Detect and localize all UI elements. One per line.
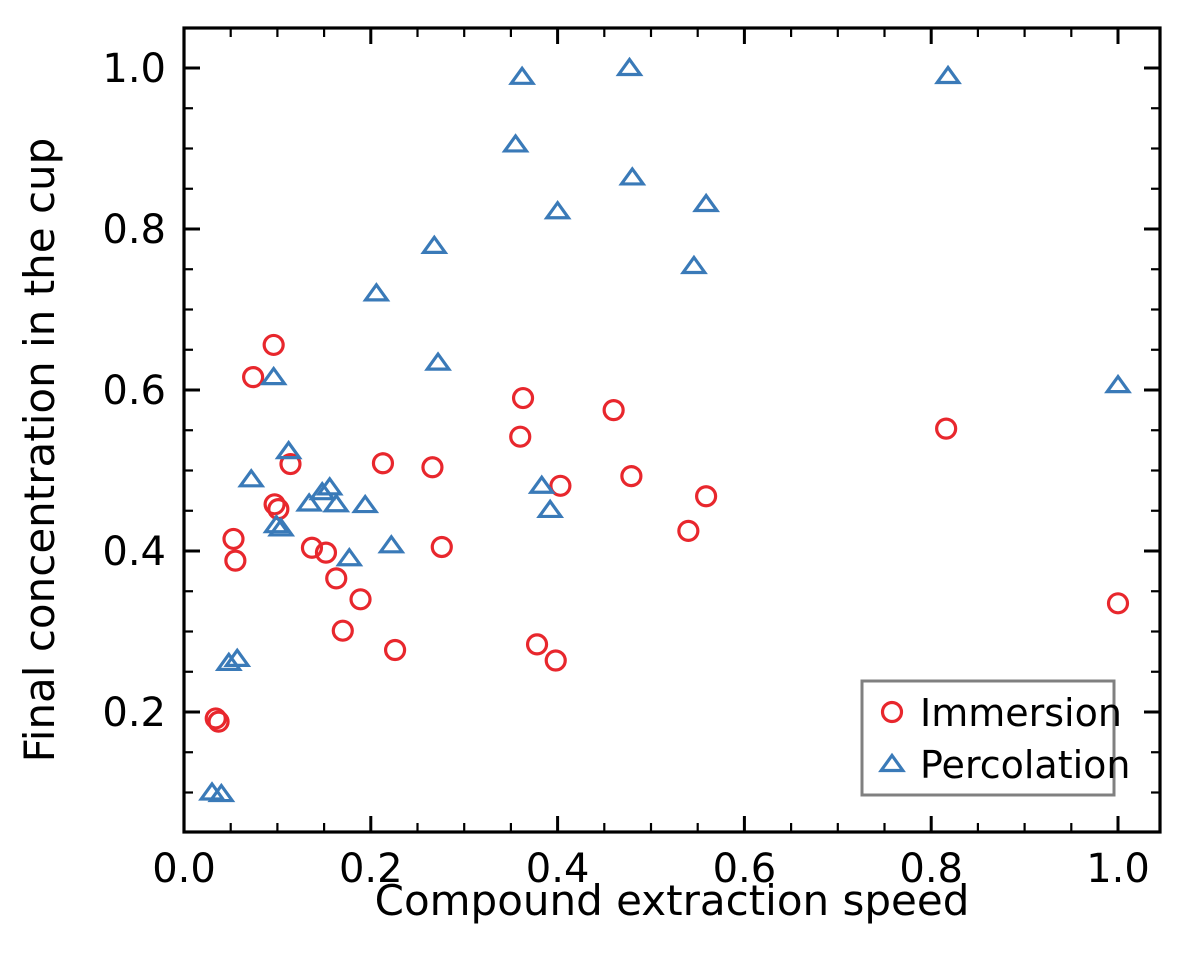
data-point-marker [514,389,533,408]
data-point-marker [333,621,352,640]
data-point-marker [432,537,451,556]
data-point-marker [511,427,530,446]
data-point-marker [937,419,956,438]
data-point-marker [695,196,717,211]
data-point-marker [327,569,346,588]
data-point-marker [604,401,623,420]
data-point-marker [366,285,388,300]
data-point-marker [1109,594,1128,613]
data-point-marker [622,169,644,184]
data-point-marker [269,500,288,519]
y-tick-label: 0.8 [102,207,166,253]
data-point-marker [354,497,376,512]
data-point-marker [424,237,446,252]
data-point-marker [683,257,705,272]
data-point-marker [427,354,449,369]
data-point-marker [226,551,245,570]
y-tick-label: 0.6 [102,368,166,414]
data-point-marker [1107,377,1129,392]
scatter-chart-figure: 0.00.20.40.60.81.0 0.20.40.60.81.0 Compo… [0,0,1200,960]
y-tick-label: 0.4 [102,529,166,575]
data-point-marker [386,641,405,660]
legend-entry-label: Percolation [920,743,1131,787]
data-point-marker [622,467,641,486]
series-immersion-points [206,335,1127,731]
data-point-marker [511,68,533,83]
data-point-marker [263,369,285,384]
data-point-marker [697,487,716,506]
x-tick-label: 1.0 [1086,846,1150,892]
x-axis-label: Compound extraction speed [375,876,970,925]
x-tick-label: 0.0 [152,846,216,892]
data-point-marker [339,550,361,565]
data-point-marker [546,651,565,670]
data-point-marker [373,454,392,473]
data-point-marker [240,471,262,486]
data-point-marker [531,477,553,492]
data-point-marker [505,136,527,151]
data-point-marker [423,458,442,477]
y-axis-label: Final concentration in the cup [15,138,64,763]
data-point-marker [381,537,403,552]
data-point-marker [264,335,283,354]
y-axis-tick-labels: 0.20.40.60.81.0 [102,46,166,736]
plot-canvas: 0.00.20.40.60.81.0 0.20.40.60.81.0 Compo… [0,0,1200,960]
legend-entry-label: Immersion [920,691,1122,735]
data-point-marker [244,368,263,387]
chart-legend[interactable]: ImmersionPercolation [862,681,1131,795]
data-point-marker [351,590,370,609]
data-point-marker [539,501,561,516]
y-tick-label: 1.0 [102,46,166,92]
data-point-marker [619,59,641,74]
data-point-marker [224,529,243,548]
data-point-marker [937,68,959,83]
data-point-marker [547,203,569,218]
y-tick-label: 0.2 [102,690,166,736]
data-point-marker [528,635,547,654]
data-point-marker [679,521,698,540]
